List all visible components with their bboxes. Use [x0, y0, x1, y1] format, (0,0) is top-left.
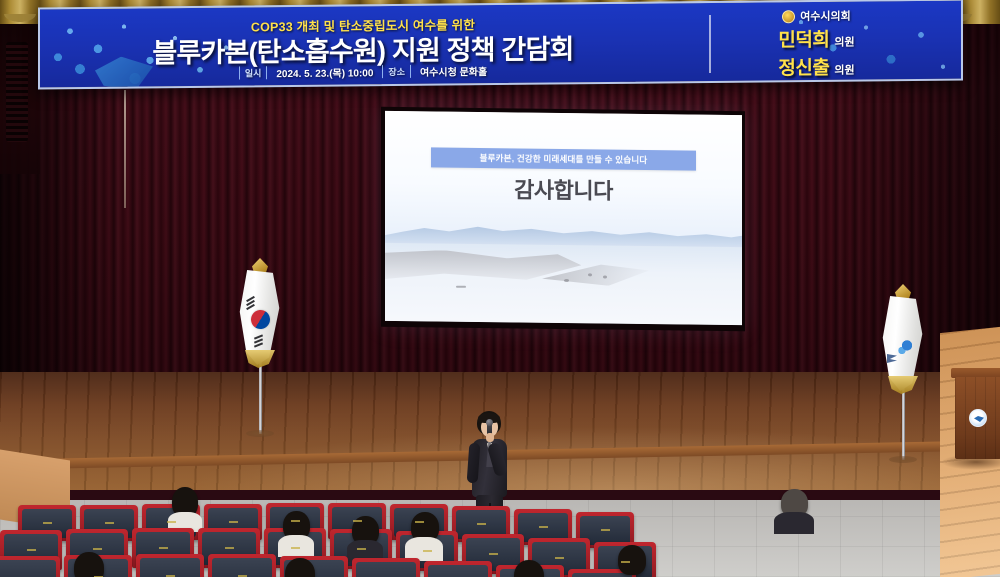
council-member-name-1: 민덕희: [778, 25, 829, 52]
council-member-title-1: 의원: [834, 34, 854, 50]
flag-fringe: [238, 350, 282, 368]
slide-dot: [564, 279, 569, 282]
flag-stand: [246, 430, 274, 437]
council-member-title-2: 의원: [834, 62, 854, 78]
city-flag: [858, 288, 948, 458]
projection-screen-frame: 블루카본, 건강한 미래세대를 만들 수 있습니다 감사합니다: [381, 107, 745, 331]
council-member-name-2: 정신출: [778, 53, 829, 80]
council-member-row: 민덕희 의원: [714, 24, 919, 53]
council-member-row: 정신출 의원: [714, 52, 919, 81]
banner-place-label: 장소: [382, 65, 411, 78]
attendee-head: [618, 545, 646, 575]
banner-place-value: 여수시청 문화홀: [420, 63, 487, 79]
seat: [352, 558, 420, 577]
slide-headline-text: 감사합니다: [385, 171, 742, 207]
council-emblem-icon: [782, 10, 795, 23]
banner-hanging-wire: [124, 90, 126, 208]
flag-fringe: [881, 376, 925, 394]
podium-body: [955, 377, 1000, 459]
attendee-shoulders: [774, 512, 814, 534]
speaker-hand: [486, 433, 494, 442]
seat: [208, 554, 276, 577]
podium: [955, 368, 1000, 472]
auditorium-scene: COP33 개최 및 탄소중립도시 여수를 위한 블루카본(탄소흡수원) 지원 …: [0, 0, 1000, 577]
banner-date-label: 일시: [239, 66, 268, 79]
taeguk-symbol-icon: [248, 307, 274, 333]
flag-stand: [889, 456, 917, 463]
pa-speaker-stack: [0, 24, 40, 174]
event-banner: COP33 개최 및 탄소중립도시 여수를 위한 블루카본(탄소흡수원) 지원 …: [38, 0, 963, 89]
seat: [136, 554, 204, 577]
council-organization-name: 여수시의회: [800, 8, 851, 24]
banner-council-block: 여수시의회 민덕희 의원 정신출 의원: [714, 7, 919, 81]
banner-date-value: 2024. 5. 23.(목) 10:00: [276, 64, 373, 80]
slide-dot: [603, 275, 607, 278]
slide-header-text: 블루카본, 건강한 미래세대를 만들 수 있습니다: [480, 152, 648, 166]
projection-screen: 블루카본, 건강한 미래세대를 만들 수 있습니다 감사합니다: [385, 111, 742, 325]
national-flag: [215, 262, 305, 432]
attendee-head: [74, 552, 104, 577]
attendee-shoulders: [278, 535, 314, 557]
banner-divider: [709, 15, 711, 73]
podium-seal-icon: [969, 409, 987, 427]
slide-header-bar: 블루카본, 건강한 미래세대를 만들 수 있습니다: [431, 147, 695, 170]
seat: [0, 556, 60, 577]
seat: [424, 561, 492, 577]
